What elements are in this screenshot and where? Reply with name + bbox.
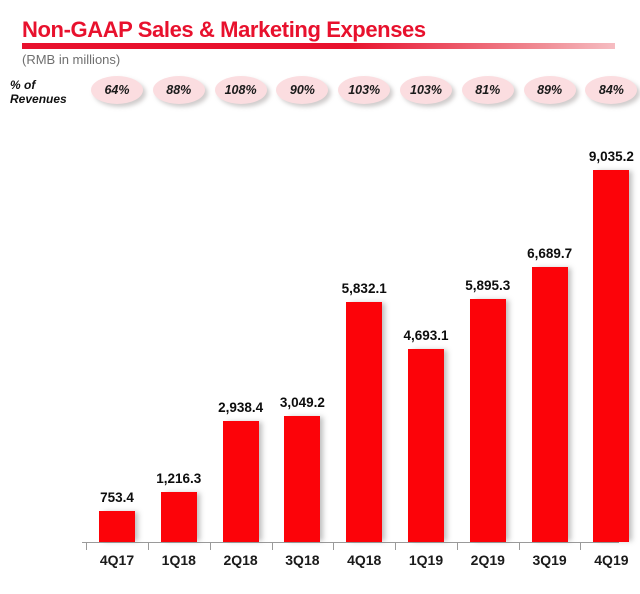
x-axis-tick — [580, 542, 581, 550]
x-axis-label-3q19: 3Q19 — [532, 552, 566, 568]
x-axis-label-1q18: 1Q18 — [162, 552, 196, 568]
bar-value-label: 1,216.3 — [156, 471, 201, 486]
x-axis-label-4q18: 4Q18 — [347, 552, 381, 568]
bar-1q19 — [408, 349, 444, 542]
x-axis-label-4q17: 4Q17 — [100, 552, 134, 568]
bar-1q18 — [161, 492, 197, 542]
x-axis-label-4q19: 4Q19 — [594, 552, 628, 568]
bar-2q19 — [470, 299, 506, 542]
bar-value-label: 6,689.7 — [527, 246, 572, 261]
bar-value-label: 753.4 — [100, 490, 134, 505]
x-axis-label-1q19: 1Q19 — [409, 552, 443, 568]
x-axis-label-3q18: 3Q18 — [285, 552, 319, 568]
x-axis-line — [82, 542, 619, 543]
bar-4q17 — [99, 511, 135, 542]
x-axis-tick — [395, 542, 396, 550]
x-axis-tick — [210, 542, 211, 550]
bar-3q19 — [532, 267, 568, 542]
bar-value-label: 5,895.3 — [465, 278, 510, 293]
x-axis-label-2q19: 2Q19 — [471, 552, 505, 568]
x-axis-tick — [272, 542, 273, 550]
bar-4q19 — [593, 170, 629, 542]
bar-2q18 — [223, 421, 259, 542]
x-axis-tick — [86, 542, 87, 550]
x-axis-tick — [457, 542, 458, 550]
bar-value-label: 9,035.2 — [589, 149, 634, 164]
chart-page: Non-GAAP Sales & Marketing Expenses (RMB… — [0, 0, 640, 594]
x-axis-tick — [519, 542, 520, 550]
x-axis-tick — [148, 542, 149, 550]
bar-3q18 — [284, 416, 320, 542]
x-axis-tick — [333, 542, 334, 550]
bar-value-label: 3,049.2 — [280, 395, 325, 410]
x-axis-label-2q18: 2Q18 — [223, 552, 257, 568]
bar-value-label: 4,693.1 — [403, 328, 448, 343]
bar-4q18 — [346, 302, 382, 542]
bar-value-label: 5,832.1 — [342, 281, 387, 296]
bar-chart-plot: 753.41,216.32,938.43,049.25,832.14,693.1… — [0, 0, 640, 594]
bar-value-label: 2,938.4 — [218, 400, 263, 415]
